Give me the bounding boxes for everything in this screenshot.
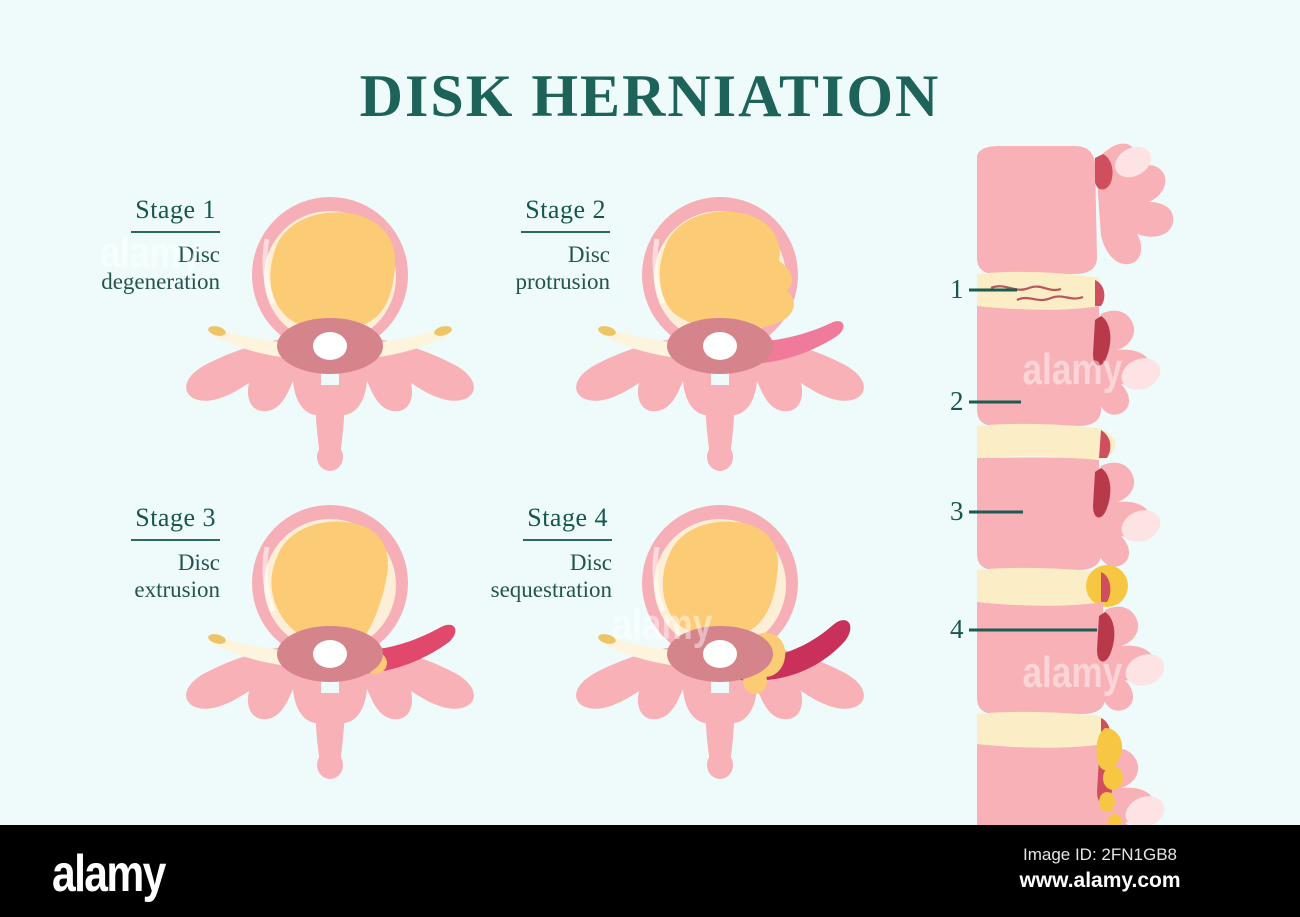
spinal-cord-at-disc-1 — [1095, 280, 1104, 306]
vertebra-body-1 — [977, 141, 1173, 274]
spine-lateral-diagram — [955, 140, 1200, 765]
spinal-canal-stage-2 — [667, 318, 773, 374]
vertebra-axial-view-stage-1 — [175, 195, 485, 480]
stage-1-diagram — [175, 195, 485, 480]
disc-4-sequestration — [977, 712, 1110, 748]
lumbar-spine-sagittal-view — [955, 140, 1200, 765]
spine-label-3: 3 — [950, 498, 964, 525]
vertebra-axial-view-stage-2 — [565, 195, 875, 480]
spinal-canal-stage-4 — [667, 626, 773, 682]
vertebra-body-3 — [977, 458, 1165, 571]
vertebra-body-4 — [977, 602, 1169, 714]
disc-2-protrusion — [977, 424, 1115, 460]
spine-label-2: 2 — [950, 388, 964, 415]
vertebra-body-2 — [977, 306, 1165, 426]
alamy-logo: alamy — [52, 844, 165, 904]
page-title: DISK HERNIATION — [0, 62, 1300, 131]
alamy-url-text: www.alamy.com — [940, 869, 1260, 893]
stage-2-diagram — [565, 195, 875, 480]
nucleus-pulposus — [270, 212, 395, 331]
vertebra-axial-view-stage-4 — [565, 503, 875, 788]
spine-label-4: 4 — [950, 616, 964, 643]
stage-4-diagram — [565, 503, 875, 788]
spinal-canal-stage-3 — [277, 626, 383, 682]
spinal-canal-stage-1 — [277, 318, 383, 374]
illustration-canvas: DISK HERNIATION Stage 1 Disc degeneratio… — [0, 0, 1300, 825]
spine-label-1: 1 — [950, 276, 964, 303]
nucleus-pulposus — [663, 521, 778, 637]
image-id-text: Image ID: 2FN1GB8 — [940, 845, 1260, 865]
alamy-footer-bar: alamy Image ID: 2FN1GB8 www.alamy.com — [0, 825, 1300, 917]
disc-3-extrusion — [977, 565, 1128, 607]
